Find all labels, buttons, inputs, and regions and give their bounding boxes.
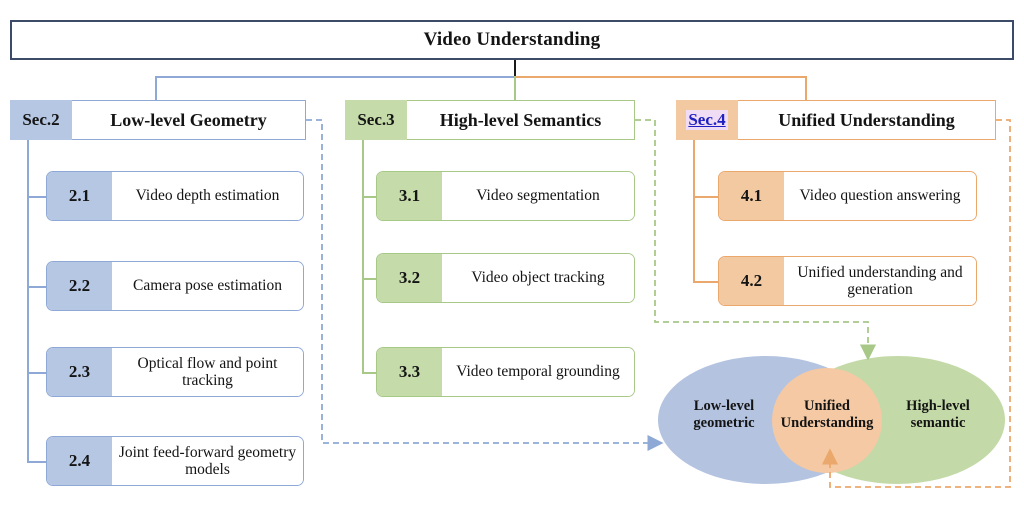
item-label: Video question answering <box>784 172 976 220</box>
venn-label-high-level: High-level semantic <box>878 398 998 432</box>
list-item[interactable]: 4.1 Video question answering <box>718 171 977 221</box>
list-item[interactable]: 4.2 Unified understanding and generation <box>718 256 977 306</box>
root-node-label: Video Understanding <box>424 29 601 51</box>
list-item[interactable]: 2.3 Optical flow and point tracking <box>46 347 304 397</box>
connector-bus-orange <box>515 76 806 78</box>
list-item[interactable]: 3.3 Video temporal grounding <box>376 347 635 397</box>
connector-drop-sec2 <box>155 76 157 100</box>
item-number: 4.1 <box>719 172 784 220</box>
item-number: 2.3 <box>47 348 112 396</box>
item-label: Video temporal grounding <box>442 348 634 396</box>
diagram-canvas: Video Understanding Sec.2 Low-level Geom… <box>0 0 1024 512</box>
root-node-video-understanding: Video Understanding <box>10 20 1014 60</box>
item-number: 2.2 <box>47 262 112 310</box>
section-title-sec2: Low-level Geometry <box>72 100 306 140</box>
connector-trunk-sec3 <box>362 140 364 373</box>
section-tag-sec4-link[interactable]: Sec.4 <box>686 110 727 130</box>
item-label: Video segmentation <box>442 172 634 220</box>
item-label: Unified understanding and generation <box>784 257 976 305</box>
connector-stub-2-3 <box>27 372 47 374</box>
item-label: Optical flow and point tracking <box>112 348 303 396</box>
connector-drop-sec4 <box>805 76 807 100</box>
venn-label-unified: Unified Understanding <box>766 398 888 432</box>
list-item[interactable]: 2.4 Joint feed-forward geometry models <box>46 436 304 486</box>
connector-stub-2-1 <box>27 196 47 198</box>
connector-stub-2-4 <box>27 461 47 463</box>
section-tag-sec3[interactable]: Sec.3 <box>345 100 407 140</box>
item-label: Joint feed-forward geometry models <box>112 437 303 485</box>
list-item[interactable]: 2.2 Camera pose estimation <box>46 261 304 311</box>
connector-bus-blue <box>155 76 515 78</box>
section-tag-sec4[interactable]: Sec.4 <box>676 100 738 140</box>
item-label: Video object tracking <box>442 254 634 302</box>
list-item[interactable]: 3.2 Video object tracking <box>376 253 635 303</box>
connector-root-stem <box>514 60 516 77</box>
connector-stub-3-2 <box>362 278 377 280</box>
item-number: 3.2 <box>377 254 442 302</box>
connector-stub-4-1 <box>693 196 719 198</box>
connector-stub-4-2 <box>693 281 719 283</box>
connector-stub-3-1 <box>362 196 377 198</box>
section-header-sec4[interactable]: Sec.4 Unified Understanding <box>676 100 996 140</box>
venn-diagram: Low-level geometric High-level semantic … <box>650 352 1010 487</box>
item-label: Camera pose estimation <box>112 262 303 310</box>
section-title-sec4: Unified Understanding <box>738 100 996 140</box>
connector-trunk-sec2 <box>27 140 29 462</box>
section-header-sec2[interactable]: Sec.2 Low-level Geometry <box>10 100 306 140</box>
connector-stub-2-2 <box>27 286 47 288</box>
item-number: 3.1 <box>377 172 442 220</box>
section-tag-sec2[interactable]: Sec.2 <box>10 100 72 140</box>
connector-stub-3-3 <box>362 372 377 374</box>
item-number: 3.3 <box>377 348 442 396</box>
item-number: 2.4 <box>47 437 112 485</box>
connector-drop-sec3 <box>514 76 516 100</box>
item-number: 2.1 <box>47 172 112 220</box>
connector-trunk-sec4 <box>693 140 695 282</box>
item-label: Video depth estimation <box>112 172 303 220</box>
dashed-arrow-sec3-to-venn <box>635 120 868 357</box>
section-title-sec3: High-level Semantics <box>407 100 635 140</box>
list-item[interactable]: 2.1 Video depth estimation <box>46 171 304 221</box>
section-header-sec3[interactable]: Sec.3 High-level Semantics <box>345 100 635 140</box>
item-number: 4.2 <box>719 257 784 305</box>
list-item[interactable]: 3.1 Video segmentation <box>376 171 635 221</box>
